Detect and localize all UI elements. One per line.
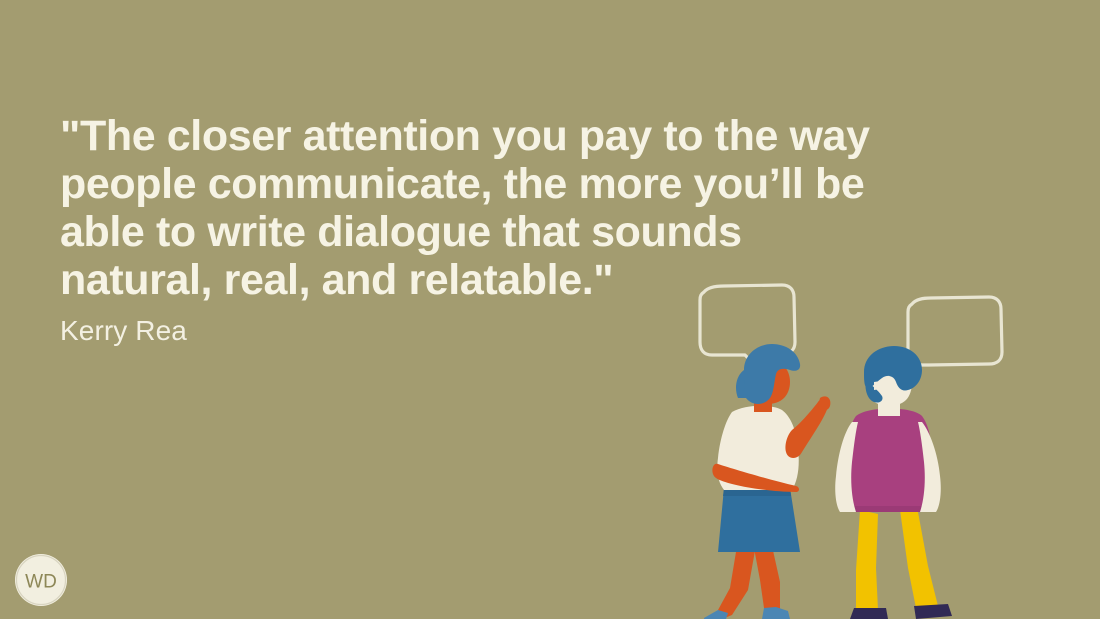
quote-line-4: natural, real, and relatable."	[60, 256, 960, 304]
quote-card: "The closer attention you pay to the way…	[0, 0, 1100, 619]
logo-text: WD	[25, 572, 57, 593]
quote-block: "The closer attention you pay to the way…	[60, 112, 960, 348]
quote-line-2: people communicate, the more you’ll be	[60, 160, 960, 208]
figure-right-man	[835, 346, 952, 619]
figure-left-woman	[704, 344, 830, 619]
quote-line-3: able to write dialogue that sounds	[60, 208, 960, 256]
wd-logo[interactable]: WD	[12, 551, 70, 609]
quote-line-1: "The closer attention you pay to the way	[60, 112, 960, 160]
quote-attribution: Kerry Rea	[60, 314, 960, 348]
